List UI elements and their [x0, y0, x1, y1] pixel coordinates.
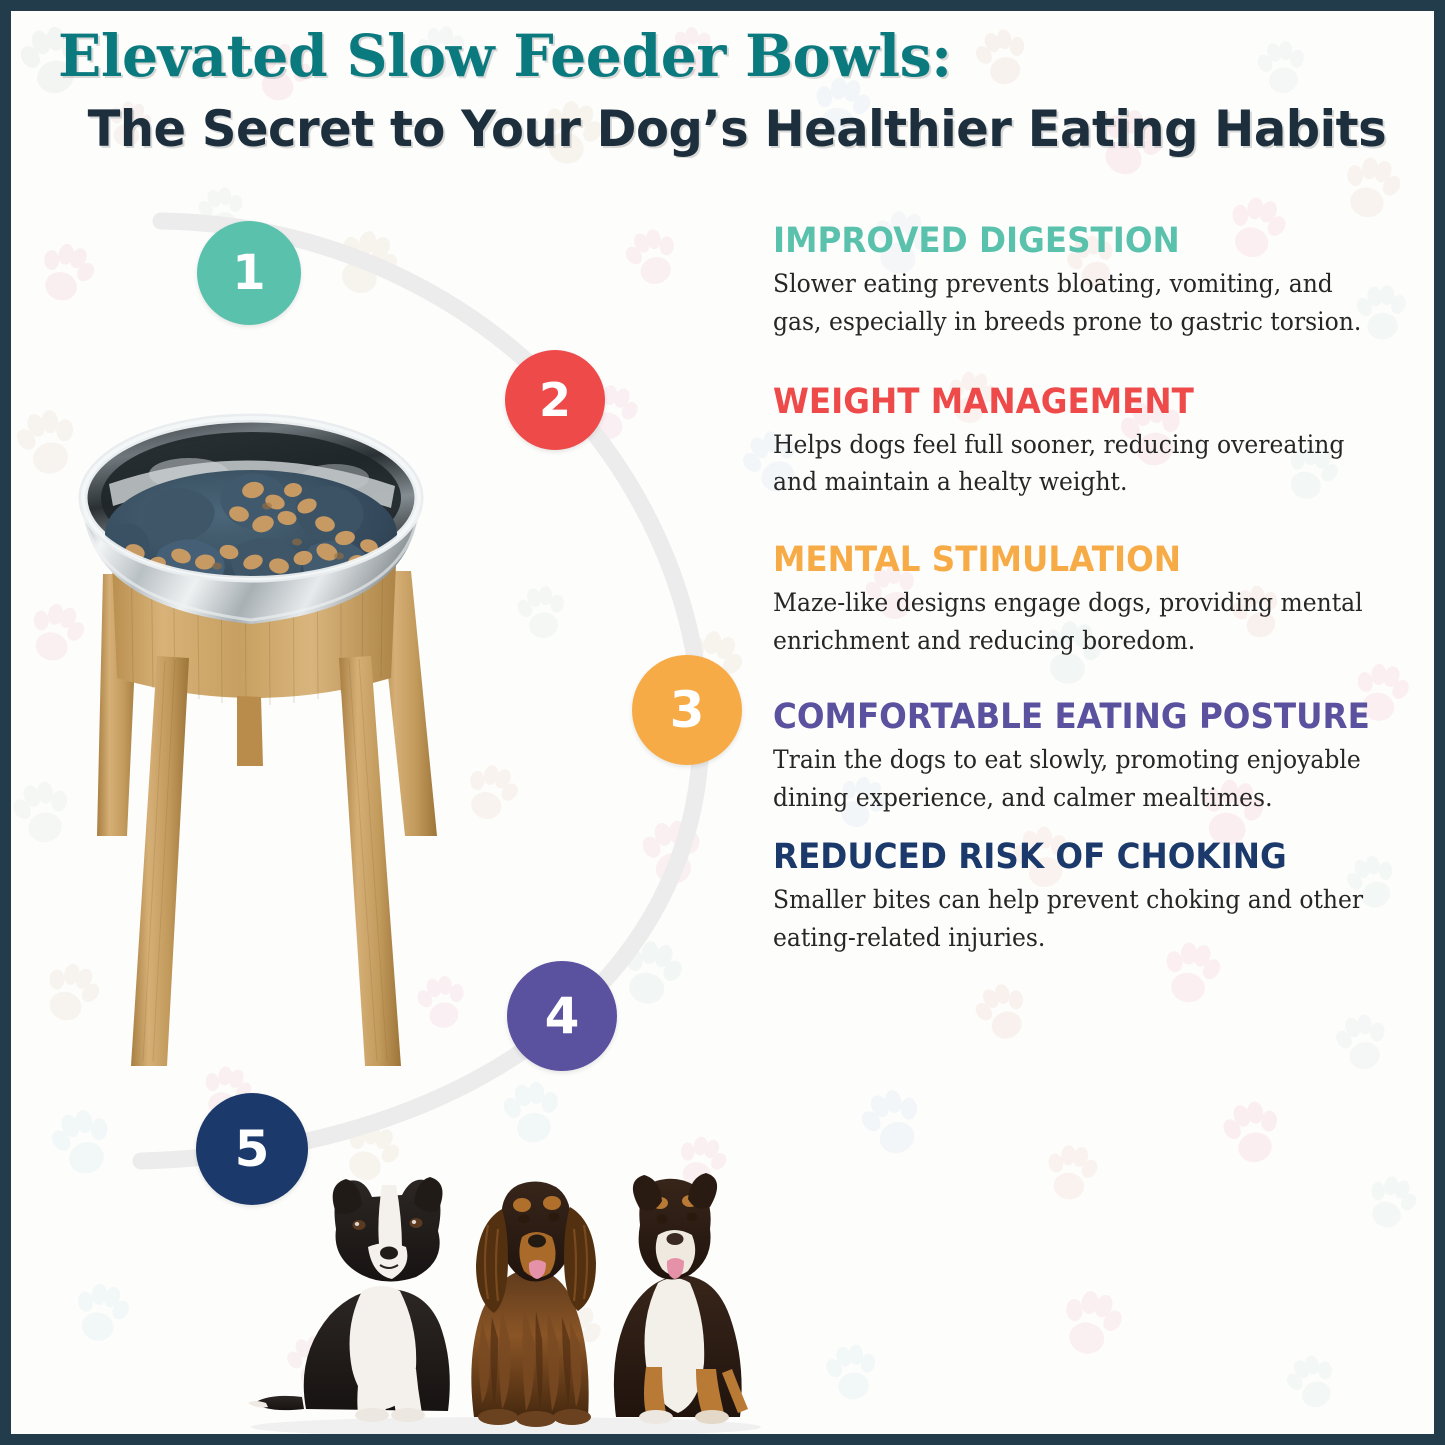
dog-border-collie — [248, 1177, 450, 1422]
benefit-item-comfortable-eating-posture: COMFORTABLE EATING POSTURE Train the dog… — [773, 699, 1433, 818]
benefit-item-mental-stimulation: MENTAL STIMULATION Maze-like designs eng… — [773, 542, 1433, 661]
title-line-2: The Secret to Your Dog’s Healthier Eatin… — [39, 100, 1405, 158]
dog-cocker-spaniel — [471, 1181, 596, 1427]
infographic-poster: Elevated Slow Feeder Bowls: The Secret t… — [0, 0, 1445, 1445]
benefit-heading: REDUCED RISK OF CHOKING — [773, 839, 1387, 876]
benefit-body: Slower eating prevents bloating, vomitin… — [773, 266, 1380, 341]
number-badge-1: 1 — [197, 221, 301, 325]
number-badge-5: 5 — [196, 1093, 308, 1205]
benefits-list: IMPROVED DIGESTION Slower eating prevent… — [773, 223, 1433, 964]
benefit-body: Maze-like designs engage dogs, providing… — [773, 585, 1380, 660]
title-line-1: Elevated Slow Feeder Bowls: — [11, 25, 1406, 88]
benefit-body: Train the dogs to eat slowly, promoting … — [773, 742, 1380, 817]
stand-legs-front — [131, 656, 401, 1066]
benefit-body: Helps dogs feel full sooner, reducing ov… — [773, 427, 1380, 502]
number-badge-4: 4 — [507, 961, 617, 1071]
benefit-item-reduced-risk-of-choking: REDUCED RISK OF CHOKING Smaller bites ca… — [773, 839, 1433, 958]
benefit-heading: COMFORTABLE EATING POSTURE — [773, 699, 1387, 736]
benefit-item-improved-digestion: IMPROVED DIGESTION Slower eating prevent… — [773, 223, 1433, 342]
benefit-body: Smaller bites can help prevent choking a… — [773, 882, 1380, 957]
benefit-heading: IMPROVED DIGESTION — [773, 223, 1387, 260]
poster-canvas: Elevated Slow Feeder Bowls: The Secret t… — [11, 11, 1434, 1434]
dogs-photo-three-dogs — [226, 1141, 786, 1434]
number-badge-3: 3 — [632, 655, 742, 765]
benefit-item-weight-management: WEIGHT MANAGEMENT Helps dogs feel full s… — [773, 384, 1433, 503]
page-title: Elevated Slow Feeder Bowls: The Secret t… — [11, 25, 1434, 158]
benefit-heading: WEIGHT MANAGEMENT — [773, 384, 1387, 421]
product-image-elevated-feeder: ZPIRATES — [39, 366, 509, 1106]
benefit-heading: MENTAL STIMULATION — [773, 542, 1387, 579]
number-badge-2: 2 — [505, 350, 605, 450]
dog-australian-shepherd — [614, 1173, 748, 1424]
